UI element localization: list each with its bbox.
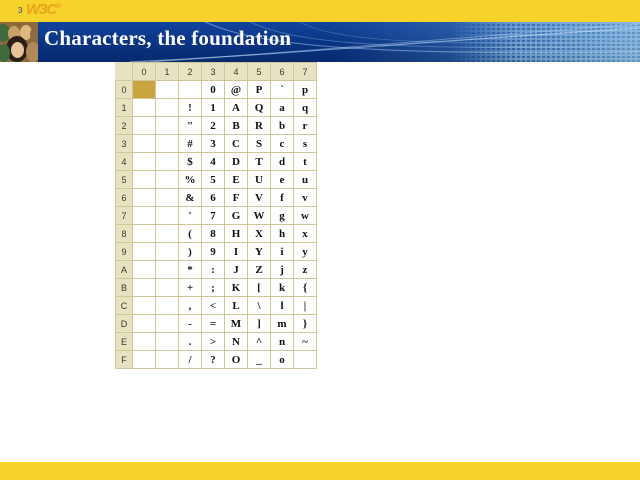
table-cell[interactable]: ; [202,279,225,297]
table-row: F/?O_o [116,351,317,369]
table-cell[interactable]: : [202,261,225,279]
table-cell[interactable]: @ [225,81,248,99]
table-cell[interactable] [156,243,179,261]
table-cell[interactable]: < [202,297,225,315]
table-cell[interactable]: r [294,117,317,135]
table-cell[interactable] [156,333,179,351]
table-cell[interactable] [156,207,179,225]
table-cell[interactable] [133,117,156,135]
table-column-header: 0 [133,63,156,81]
table-cell[interactable]: = [202,315,225,333]
table-column-header: 2 [179,63,202,81]
table-column-header: 1 [156,63,179,81]
table-cell[interactable] [133,315,156,333]
table-row: 1!1AQaq [116,99,317,117]
table-cell[interactable]: F [225,189,248,207]
table-cell[interactable]: i [271,243,294,261]
table-cell[interactable]: T [248,153,271,171]
table-cell[interactable] [294,351,317,369]
table-cell[interactable]: 0 [202,81,225,99]
table-cell[interactable]: H [225,225,248,243]
table-cell[interactable]: g [271,207,294,225]
table-cell-selected[interactable] [133,81,156,99]
table-cell[interactable]: 7 [202,207,225,225]
table-cell[interactable]: _ [248,351,271,369]
table-row: B+;K[k{ [116,279,317,297]
table-column-header: 5 [248,63,271,81]
table-cell[interactable]: ~ [294,333,317,351]
table-row-header: 8 [116,225,133,243]
table-cell[interactable]: o [271,351,294,369]
table-row: 8(8HXhx [116,225,317,243]
table-cell[interactable]: $ [179,153,202,171]
table-cell[interactable]: A [225,99,248,117]
table-cell[interactable]: X [248,225,271,243]
table-cell[interactable] [133,297,156,315]
table-cell[interactable]: " [179,117,202,135]
table-row-header: C [116,297,133,315]
table-cell[interactable]: z [294,261,317,279]
table-cell[interactable]: [ [248,279,271,297]
table-row: A*:JZjz [116,261,317,279]
table-cell[interactable] [133,207,156,225]
table-cell[interactable]: h [271,225,294,243]
table-cell[interactable]: q [294,99,317,117]
table-cell[interactable]: ? [202,351,225,369]
table-row: 4$4DTdt [116,153,317,171]
table-cell[interactable]: ^ [248,333,271,351]
table-cell[interactable] [156,351,179,369]
table-cell[interactable]: y [294,243,317,261]
table-cell[interactable]: d [271,153,294,171]
table-cell[interactable]: 8 [202,225,225,243]
table-row-header: 7 [116,207,133,225]
table-corner-cell [116,63,133,81]
table-cell[interactable]: ( [179,225,202,243]
registered-mark-icon: ® [56,3,60,10]
table-cell[interactable]: \ [248,297,271,315]
table-body: 00@P`p1!1AQaq2"2BRbr3#3CScs4$4DTdt5%5EUe… [116,81,317,369]
table-cell[interactable]: ! [179,99,202,117]
table-cell[interactable]: # [179,135,202,153]
table-column-header: 6 [271,63,294,81]
table-cell[interactable] [133,279,156,297]
table-row-header: 5 [116,171,133,189]
table-cell[interactable]: m [271,315,294,333]
table-column-header: 7 [294,63,317,81]
slide-content-area [0,62,640,462]
table-cell[interactable]: W [248,207,271,225]
table-row: 00@P`p [116,81,317,99]
table-cell[interactable]: Q [248,99,271,117]
table-row-header: 1 [116,99,133,117]
table-cell[interactable]: ' [179,207,202,225]
table-cell[interactable] [156,153,179,171]
table-cell[interactable]: U [248,171,271,189]
table-cell[interactable] [133,153,156,171]
page-title: Characters, the foundation [44,26,291,51]
table-cell[interactable]: j [271,261,294,279]
table-cell[interactable]: J [225,261,248,279]
table-row: C,<L\l| [116,297,317,315]
table-cell[interactable]: L [225,297,248,315]
table-row-header: 2 [116,117,133,135]
w3c-logo-text: W3C [26,1,56,18]
table-cell[interactable] [133,171,156,189]
table-cell[interactable] [133,189,156,207]
table-cell[interactable]: S [248,135,271,153]
table-row-header: D [116,315,133,333]
table-cell[interactable] [156,261,179,279]
table-cell[interactable] [156,81,179,99]
table-cell[interactable]: . [179,333,202,351]
table-cell[interactable]: & [179,189,202,207]
table-row: 7'7GWgw [116,207,317,225]
table-cell[interactable]: / [179,351,202,369]
table-cell[interactable]: l [271,297,294,315]
table-row-header: 0 [116,81,133,99]
table-cell[interactable]: b [271,117,294,135]
table-cell[interactable] [156,279,179,297]
bottom-yellow-bar [0,462,640,480]
table-cell[interactable]: k [271,279,294,297]
table-cell[interactable] [156,99,179,117]
table-row: 6&6FVfv [116,189,317,207]
table-cell[interactable]: D [225,153,248,171]
table-cell[interactable]: u [294,171,317,189]
table-cell[interactable]: p [294,81,317,99]
table-cell[interactable] [156,297,179,315]
table-row-header: 4 [116,153,133,171]
table-cell[interactable] [133,135,156,153]
table-cell[interactable]: ` [271,81,294,99]
table-cell[interactable] [133,333,156,351]
table-cell[interactable]: v [294,189,317,207]
table-cell[interactable]: O [225,351,248,369]
table-cell[interactable]: n [271,333,294,351]
table-cell[interactable]: { [294,279,317,297]
table-cell[interactable]: 5 [202,171,225,189]
table-cell[interactable]: % [179,171,202,189]
table-column-header: 4 [225,63,248,81]
table-cell[interactable]: 4 [202,153,225,171]
table-cell[interactable]: , [179,297,202,315]
table-row-header: 9 [116,243,133,261]
ascii-character-table: 01234567 00@P`p1!1AQaq2"2BRbr3#3CScs4$4D… [115,62,317,369]
table-cell[interactable] [179,81,202,99]
w3c-logo: W3C® [26,1,61,18]
table-cell[interactable]: | [294,297,317,315]
table-cell[interactable]: } [294,315,317,333]
slide-number: 3 [18,6,22,15]
table-cell[interactable]: x [294,225,317,243]
table-row-header: F [116,351,133,369]
table-cell[interactable]: 3 [202,135,225,153]
table-cell[interactable] [156,189,179,207]
table-cell[interactable]: ] [248,315,271,333]
table-cell[interactable]: C [225,135,248,153]
table-cell[interactable]: f [271,189,294,207]
table-cell[interactable] [133,351,156,369]
table-cell[interactable]: 1 [202,99,225,117]
table-cell[interactable] [133,225,156,243]
table-row-header: 6 [116,189,133,207]
table-cell[interactable]: I [225,243,248,261]
table-cell[interactable]: > [202,333,225,351]
table-header-row: 01234567 [116,63,317,81]
table-row-header: A [116,261,133,279]
table-cell[interactable]: e [271,171,294,189]
table-cell[interactable]: Y [248,243,271,261]
table-cell[interactable] [156,315,179,333]
table-cell[interactable]: - [179,315,202,333]
table-cell[interactable] [133,243,156,261]
table-cell[interactable] [156,225,179,243]
top-yellow-bar: 3 W3C® [0,0,640,22]
table-cell[interactable]: 6 [202,189,225,207]
table-cell[interactable]: Z [248,261,271,279]
table-cell[interactable]: a [271,99,294,117]
table-cell[interactable]: ) [179,243,202,261]
table-cell[interactable]: w [294,207,317,225]
table-cell[interactable]: P [248,81,271,99]
table-cell[interactable]: V [248,189,271,207]
table-cell[interactable]: c [271,135,294,153]
table-cell[interactable] [133,99,156,117]
table-cell[interactable]: * [179,261,202,279]
table-row: 3#3CScs [116,135,317,153]
table-cell[interactable]: 2 [202,117,225,135]
table-column-header: 3 [202,63,225,81]
table-cell[interactable] [156,135,179,153]
table-cell[interactable]: 9 [202,243,225,261]
table-row: D-=M]m} [116,315,317,333]
table-row: 9)9IYiy [116,243,317,261]
table-cell[interactable]: E [225,171,248,189]
table-cell[interactable] [133,261,156,279]
table-cell[interactable]: t [294,153,317,171]
table-cell[interactable]: + [179,279,202,297]
table-cell[interactable]: G [225,207,248,225]
table-cell[interactable]: R [248,117,271,135]
table-cell[interactable]: N [225,333,248,351]
table-cell[interactable]: K [225,279,248,297]
table-row-header: E [116,333,133,351]
table-cell[interactable]: M [225,315,248,333]
table-row: 5%5EUeu [116,171,317,189]
table-cell[interactable] [156,171,179,189]
table-cell[interactable]: B [225,117,248,135]
table-row-header: 3 [116,135,133,153]
table-cell[interactable] [156,117,179,135]
table-row: E.>N^n~ [116,333,317,351]
table-row: 2"2BRbr [116,117,317,135]
people-photo-thumbnail [0,22,38,62]
table-row-header: B [116,279,133,297]
table-cell[interactable]: s [294,135,317,153]
